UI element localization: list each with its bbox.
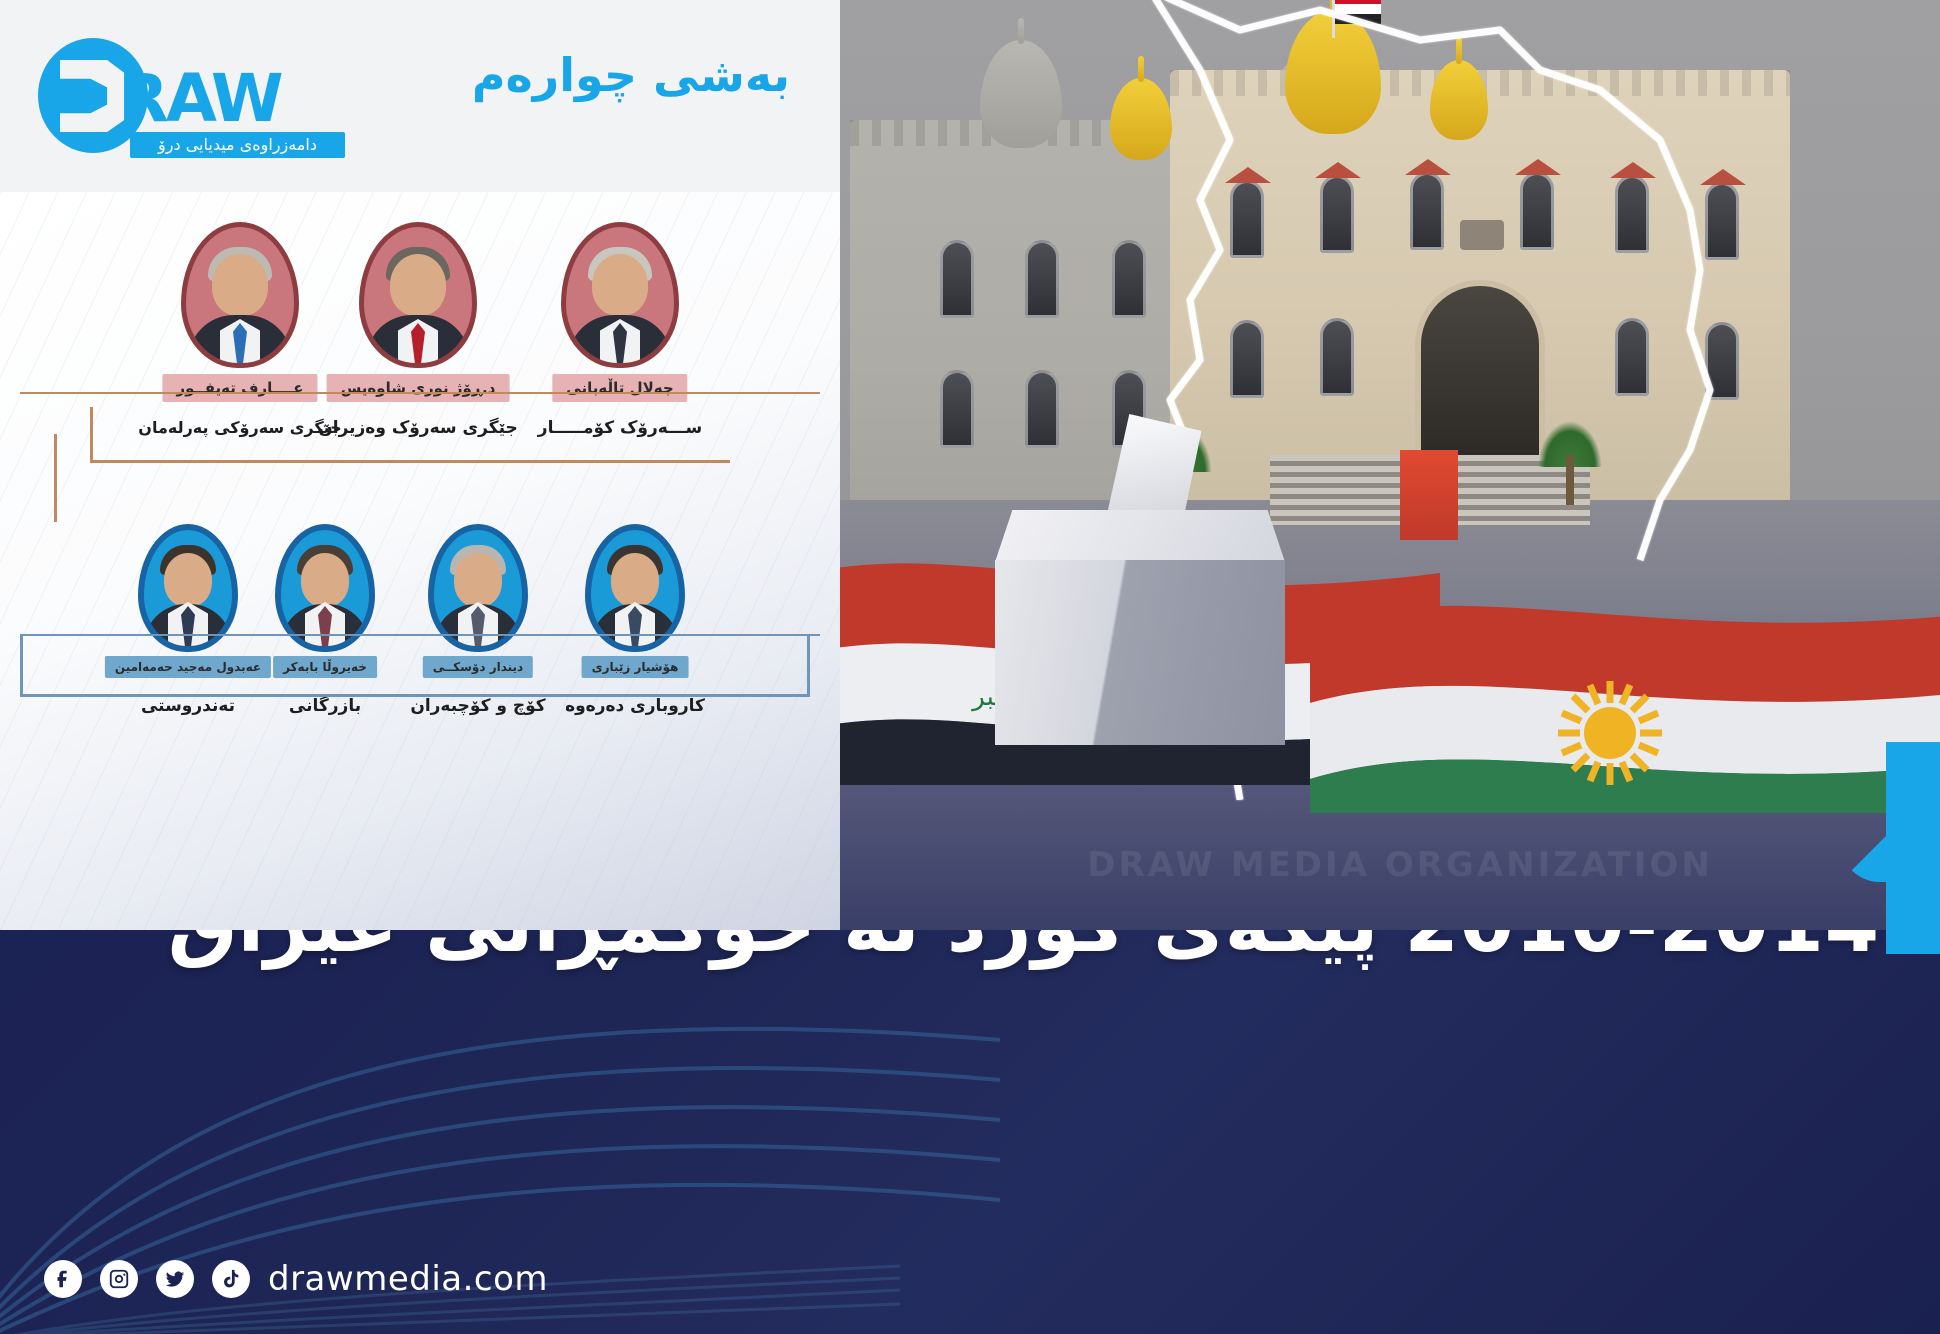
- ballot-box-lid: [995, 510, 1285, 562]
- kurdistan-sun-icon: [1558, 681, 1662, 785]
- tiktok-icon[interactable]: [212, 1260, 250, 1298]
- avatar: [428, 524, 528, 652]
- person-name-badge: هۆشیار زێباری: [582, 656, 689, 678]
- twitter-icon[interactable]: [156, 1260, 194, 1298]
- person-role: جێگری سەرۆک وەزیران: [318, 418, 518, 438]
- header-bar: RAW دامەزراوەی میدیایی درۆ بەشی چوارەم: [0, 0, 840, 192]
- avatar-suit: [188, 315, 292, 363]
- org-chart-row-2: هۆشیار زێباری کاروباری دەرەوە دیندار دۆس…: [0, 474, 840, 724]
- person-name-badge: خەیروڵا بابەکر: [273, 656, 377, 678]
- avatar-face: [611, 553, 659, 607]
- facebook-icon[interactable]: [44, 1260, 82, 1298]
- person-name-badge: دیندار دۆسکــی: [423, 656, 533, 678]
- headline-line-2-text: پێگەی کورد لە حوکمڕانی عێراق: [168, 930, 1379, 970]
- kurdistan-flag: [1310, 583, 1940, 813]
- connector-horizontal: [20, 694, 810, 697]
- connector-vertical: [20, 634, 23, 696]
- avatar-suit: [144, 604, 232, 646]
- row-divider: [20, 634, 820, 636]
- avatar-face: [592, 254, 648, 316]
- person-role: بازرگانی: [289, 696, 361, 716]
- org-chart-row-1: جەلال تاڵەبانی ســـەرۆک کۆمـــــار د.ڕۆژ…: [0, 212, 840, 472]
- avatar: [138, 524, 238, 652]
- person-role: کۆچ و کۆچبەران: [410, 696, 545, 716]
- hero-image-panel: الله اكبر: [840, 0, 1940, 930]
- headline-line-2: 2010-2014پێگەی کورد لە حوکمڕانی عێراق: [80, 930, 1880, 970]
- person-role: تەندروستی: [141, 696, 235, 716]
- person-role: جێگری سەرۆکی پەرلەمان: [138, 418, 341, 437]
- part-label: بەشی چوارەم: [472, 48, 790, 102]
- ballot-box: [995, 480, 1285, 740]
- avatar-suit: [281, 604, 369, 646]
- avatar: [359, 222, 477, 368]
- avatar-suit: [568, 315, 672, 363]
- avatar: [181, 222, 299, 368]
- avatar: [275, 524, 375, 652]
- ballot-box-body: [995, 560, 1285, 745]
- footer: drawmedia.com: [44, 1252, 548, 1306]
- avatar-face: [390, 254, 446, 316]
- person-name-badge: عــــارف تەیفــور: [162, 374, 317, 402]
- avatar-face: [301, 553, 349, 607]
- org-chart-card: جەلال تاڵەبانی ســـەرۆک کۆمـــــار د.ڕۆژ…: [0, 192, 840, 930]
- row-divider: [20, 392, 820, 394]
- person-name-badge: عەبدول مەجید حەمەامین: [105, 656, 271, 678]
- accent-bar: [1886, 742, 1940, 954]
- avatar: [561, 222, 679, 368]
- avatar-face: [454, 553, 502, 607]
- person-name-badge: د.ڕۆژ نوری شاوەیس: [327, 374, 510, 402]
- draw-media-logo[interactable]: RAW دامەزراوەی میدیایی درۆ: [38, 32, 368, 152]
- avatar-suit: [434, 604, 522, 646]
- website-url[interactable]: drawmedia.com: [268, 1259, 548, 1299]
- avatar: [585, 524, 685, 652]
- headline-years: 2010-2014: [1404, 930, 1880, 970]
- watermark-text: DRAW MEDIA ORGANIZATION: [1020, 845, 1780, 885]
- instagram-icon[interactable]: [100, 1260, 138, 1298]
- person-name-badge: جەلال تاڵەبانی: [552, 374, 687, 402]
- logo-wordmark: RAW: [118, 60, 281, 137]
- person-role: ســـەرۆک کۆمـــــار: [538, 418, 702, 438]
- avatar-suit: [591, 604, 679, 646]
- avatar-face: [212, 254, 268, 316]
- avatar-face: [164, 553, 212, 607]
- infographic-canvas: الله اكبر: [0, 0, 1940, 1334]
- logo-subtitle: دامەزراوەی میدیایی درۆ: [130, 132, 345, 158]
- person-role: کاروباری دەرەوە: [565, 696, 705, 716]
- avatar-suit: [366, 315, 470, 363]
- connector-horizontal: [90, 460, 730, 463]
- connector-vertical: [90, 407, 93, 463]
- connector-vertical: [807, 634, 810, 696]
